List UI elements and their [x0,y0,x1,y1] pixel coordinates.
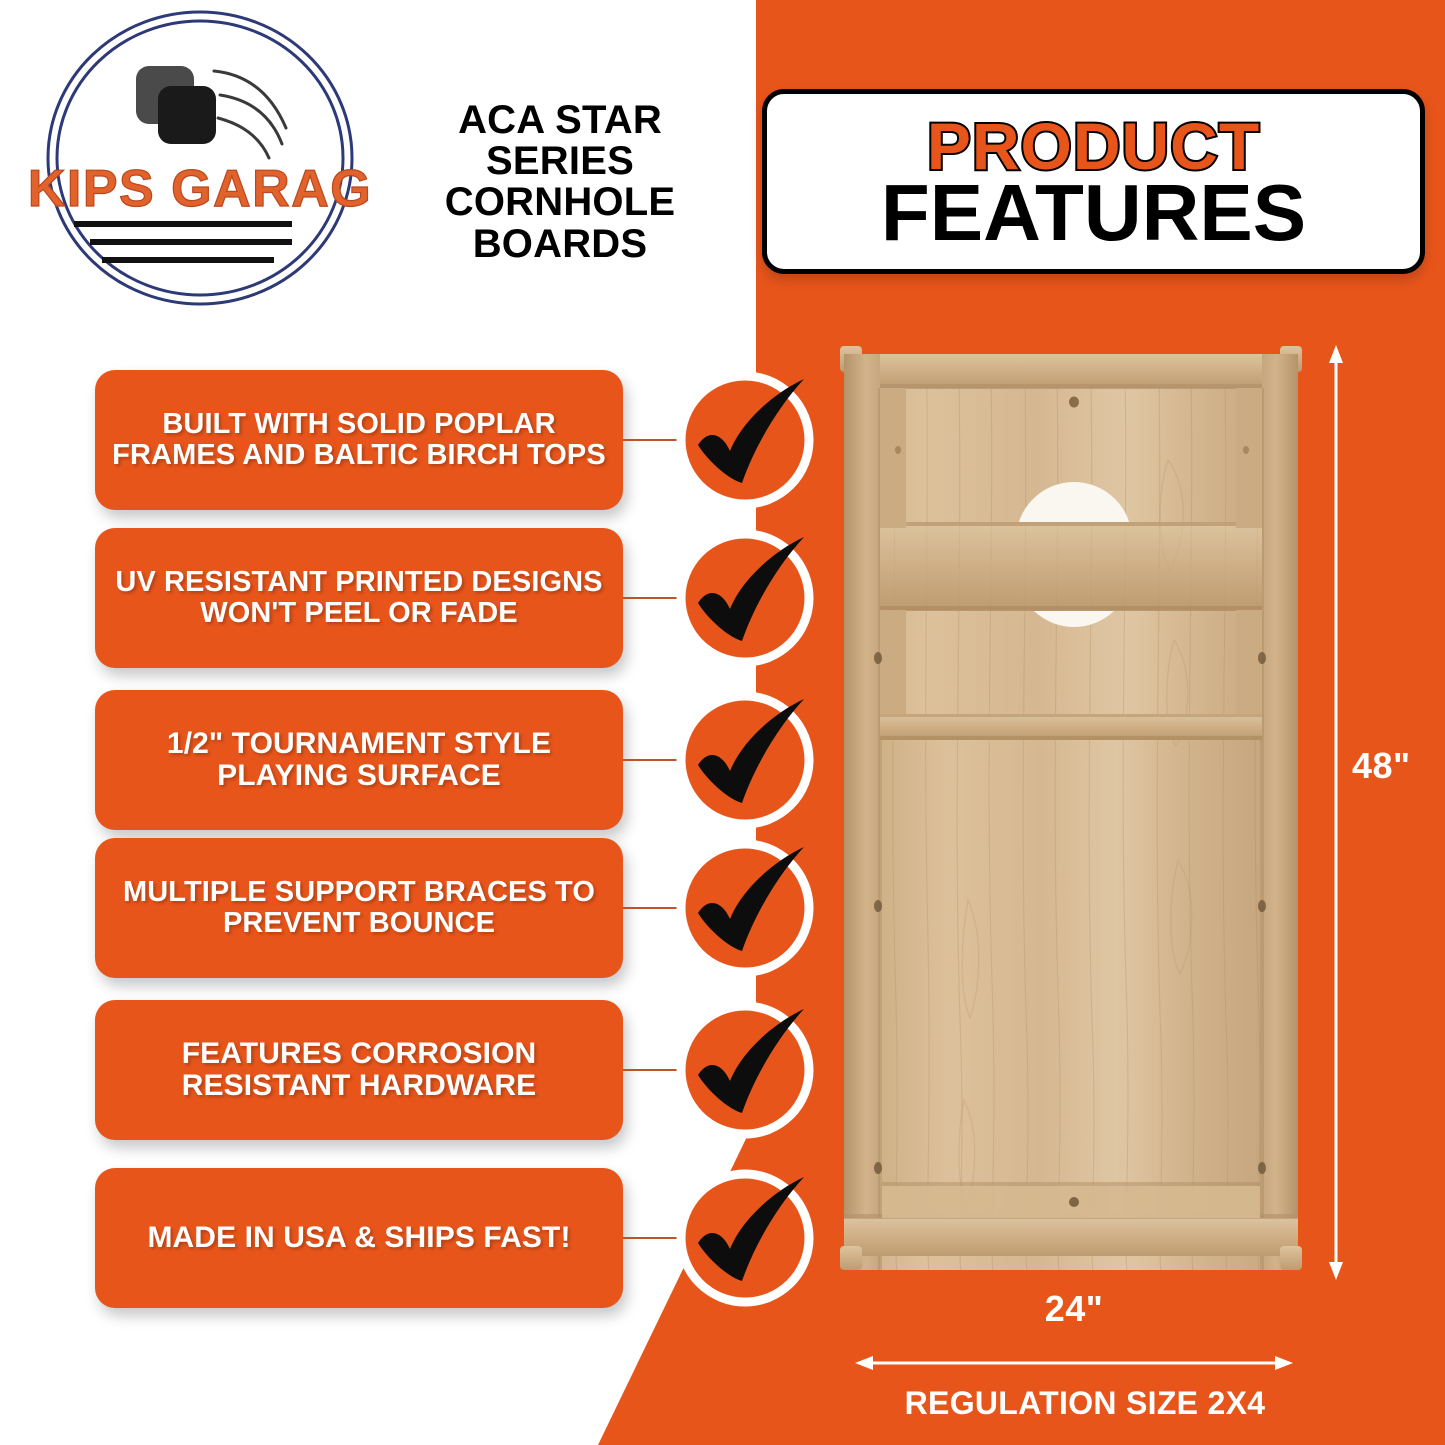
feature-row-tournament-surface: 1/2" TOURNAMENT STYLE PLAYING SURFACE [0,690,840,830]
check-icon [676,1169,814,1307]
page-title: ACA STAR SERIES CORNHOLE BOARDS [395,100,725,265]
product-features-infographic: SKIPS GARAGE ACA STAR SERIES CORNHOLE BO… [0,0,1445,1445]
check-icon [676,691,814,829]
feature-label: 1/2" TOURNAMENT STYLE PLAYING SURFACE [109,728,609,793]
width-dimension-arrow [855,1355,1293,1371]
title-line-3: CORNHOLE [395,182,725,223]
feature-pill: 1/2" TOURNAMENT STYLE PLAYING SURFACE [95,690,623,830]
title-line-4: BOARDS [395,224,725,265]
feature-pill: MADE IN USA & SHIPS FAST! [95,1168,623,1308]
product-features-banner: PRODUCT FEATURES [762,89,1425,274]
feature-label: UV RESISTANT PRINTED DESIGNS WON'T PEEL … [109,567,609,630]
feature-row-uv-resistant-designs: UV RESISTANT PRINTED DESIGNS WON'T PEEL … [0,528,840,668]
feature-row-support-braces: MULTIPLE SUPPORT BRACES TO PREVENT BOUNC… [0,838,840,978]
feature-row-made-in-usa: MADE IN USA & SHIPS FAST! [0,1168,840,1308]
regulation-size-note: REGULATION SIZE 2X4 [855,1385,1315,1422]
height-dimension-label: 48" [1352,745,1411,787]
cornhole-board-back-view [838,340,1304,1280]
check-icon [676,1001,814,1139]
feature-row-solid-poplar-frames: BUILT WITH SOLID POPLAR FRAMES AND BALTI… [0,370,840,510]
height-dimension-arrow [1328,345,1344,1280]
title-line-1: ACA STAR [395,100,725,141]
feature-label: BUILT WITH SOLID POPLAR FRAMES AND BALTI… [109,409,609,472]
banner-word-features: FEATURES [881,175,1306,251]
logo-wordmark: SKIPS GARAGE [28,160,373,218]
width-dimension-label: 24" [855,1288,1293,1330]
feature-label: MULTIPLE SUPPORT BRACES TO PREVENT BOUNC… [109,877,609,940]
check-icon [676,371,814,509]
feature-pill: BUILT WITH SOLID POPLAR FRAMES AND BALTI… [95,370,623,510]
feature-label: FEATURES CORROSION RESISTANT HARDWARE [109,1038,609,1103]
feature-pill: MULTIPLE SUPPORT BRACES TO PREVENT BOUNC… [95,838,623,978]
feature-pill: FEATURES CORROSION RESISTANT HARDWARE [95,1000,623,1140]
feature-row-corrosion-hardware: FEATURES CORROSION RESISTANT HARDWARE [0,1000,840,1140]
check-icon [676,529,814,667]
feature-label: MADE IN USA & SHIPS FAST! [147,1222,570,1254]
skips-garage-logo: SKIPS GARAGE [28,8,373,308]
check-icon [676,839,814,977]
title-line-2: SERIES [395,141,725,182]
feature-pill: UV RESISTANT PRINTED DESIGNS WON'T PEEL … [95,528,623,668]
